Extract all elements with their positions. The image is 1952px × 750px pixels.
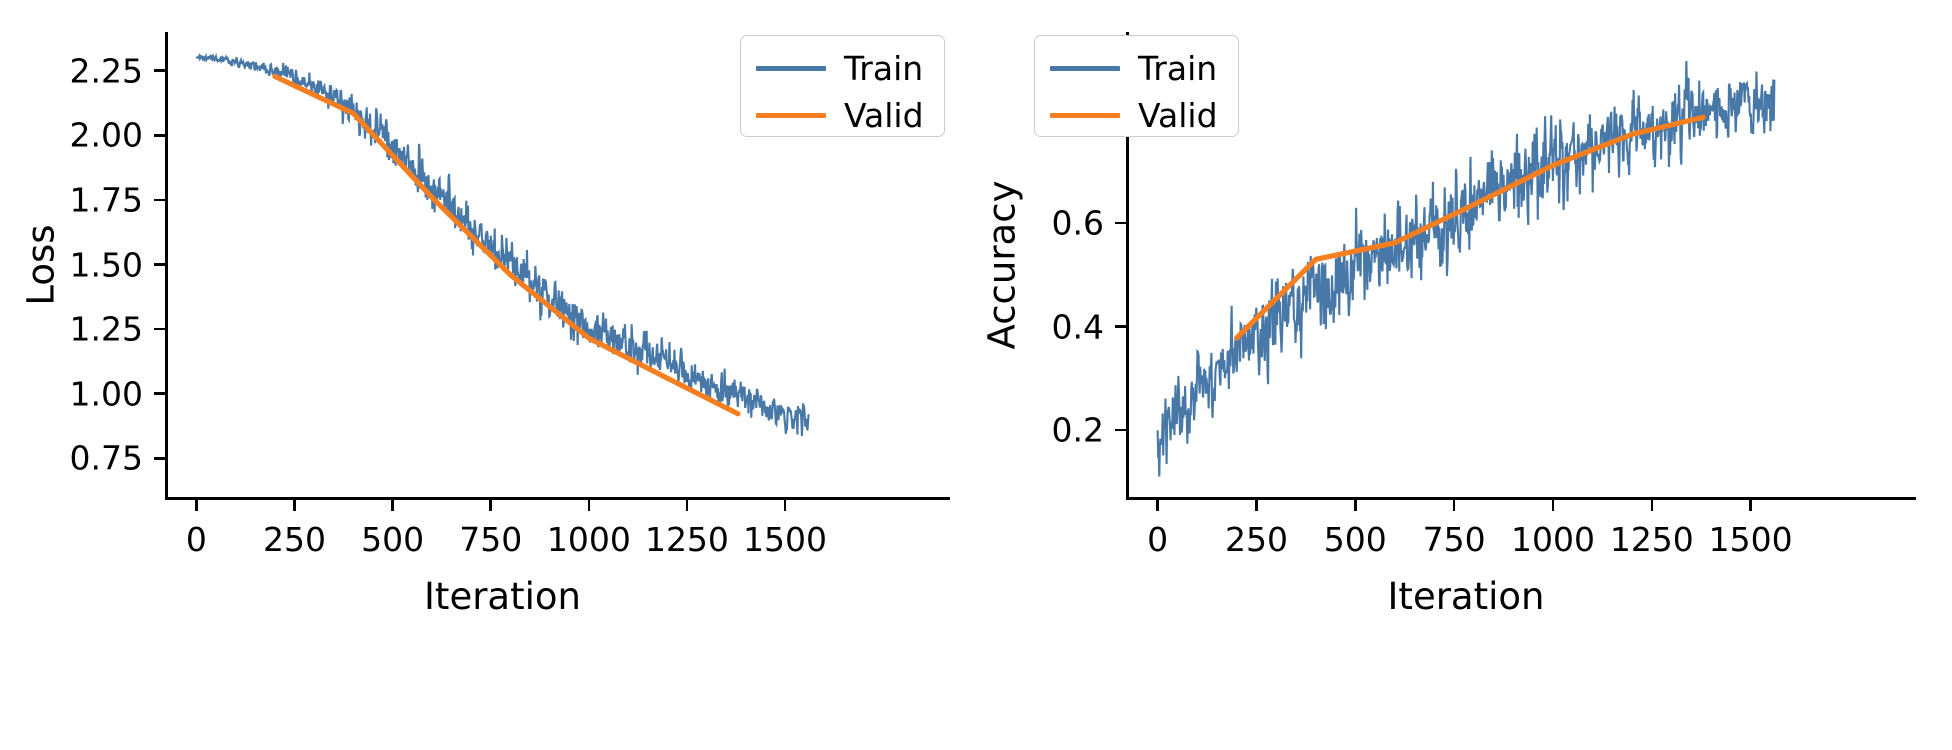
training-curves-figure: 0.751.001.251.501.752.002.25025050075010…	[0, 0, 1952, 750]
legend-entry-train[interactable]: Train	[1050, 51, 1217, 85]
loss-axes: 0.751.001.251.501.752.002.25025050075010…	[0, 0, 976, 750]
legend-label: Valid	[1138, 99, 1218, 132]
legend-label: Train	[844, 52, 923, 85]
train-line-swatch	[756, 66, 826, 71]
legend-label: Train	[1138, 52, 1217, 85]
train-line-swatch	[1050, 66, 1120, 71]
valid-line-swatch	[1050, 113, 1120, 118]
legend-label: Valid	[844, 99, 924, 132]
legend-entry-valid[interactable]: Valid	[756, 98, 924, 132]
accuracy-panel: 0.20.40.60.80250500750100012501500Iterat…	[976, 0, 1952, 750]
loss-panel: 0.751.001.251.501.752.002.25025050075010…	[0, 0, 976, 750]
legend-entry-train[interactable]: Train	[756, 51, 923, 85]
valid-line-swatch	[756, 113, 826, 118]
train-series-line	[196, 56, 808, 436]
accuracy-axes: 0.20.40.60.80250500750100012501500Iterat…	[976, 0, 1952, 750]
legend-entry-valid[interactable]: Valid	[1050, 98, 1218, 132]
